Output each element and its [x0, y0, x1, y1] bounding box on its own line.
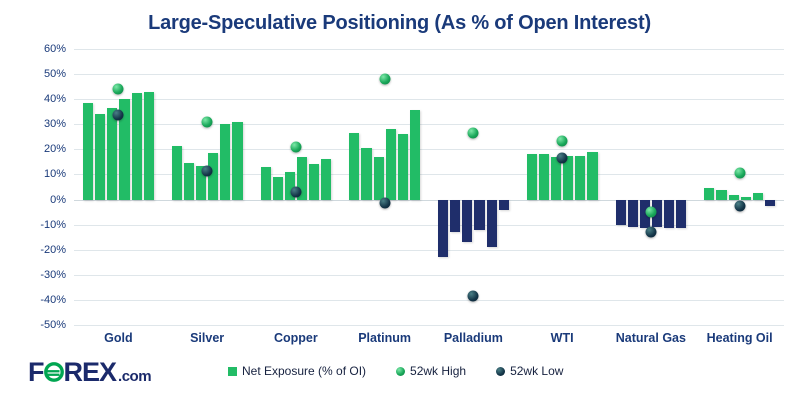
- bar[interactable]: [741, 197, 751, 200]
- y-axis-tick-label: 40%: [6, 93, 66, 105]
- marker-52wk-low[interactable]: [113, 110, 124, 121]
- bar-cell: [184, 49, 194, 325]
- bar[interactable]: [527, 154, 537, 199]
- marker-52wk-low[interactable]: [734, 200, 745, 211]
- y-axis-tick-label: 0%: [6, 194, 66, 206]
- marker-52wk-low[interactable]: [290, 187, 301, 198]
- bar[interactable]: [628, 200, 638, 228]
- x-axis-label-natural-gas: Natural Gas: [607, 331, 696, 345]
- bar-cell: [208, 49, 218, 325]
- bar[interactable]: [499, 200, 509, 210]
- bar-cell: [95, 49, 105, 325]
- legend-label-52wk-high: 52wk High: [410, 364, 466, 378]
- y-axis-tick-label: 20%: [6, 143, 66, 155]
- bar-cell: [527, 49, 537, 325]
- bar-cell: [587, 49, 597, 325]
- y-axis-tick-label: 50%: [6, 68, 66, 80]
- logo-text-rex: REX: [64, 357, 117, 388]
- bar-cell: [398, 49, 408, 325]
- bar[interactable]: [144, 92, 154, 200]
- y-axis-tick-label: 30%: [6, 118, 66, 130]
- marker-52wk-high[interactable]: [113, 84, 124, 95]
- marker-52wk-low[interactable]: [202, 165, 213, 176]
- bar-group-natural-gas: [607, 49, 696, 325]
- bar[interactable]: [184, 163, 194, 199]
- bar-cell: [450, 49, 460, 325]
- bar[interactable]: [462, 200, 472, 243]
- bar-groups: [74, 49, 784, 325]
- bar[interactable]: [349, 133, 359, 199]
- bar[interactable]: [438, 200, 448, 258]
- logo-text-com: .com: [118, 368, 151, 385]
- bar-cell: [664, 49, 674, 325]
- marker-52wk-high[interactable]: [202, 116, 213, 127]
- y-axis-tick-label: 10%: [6, 168, 66, 180]
- bar[interactable]: [398, 134, 408, 199]
- marker-52wk-high[interactable]: [645, 207, 656, 218]
- bar-cell: [386, 49, 396, 325]
- bar-cell: [172, 49, 182, 325]
- bar[interactable]: [676, 200, 686, 229]
- bars: [340, 49, 429, 325]
- bars: [607, 49, 696, 325]
- bar-cell: [765, 49, 775, 325]
- bar[interactable]: [474, 200, 484, 230]
- bar-group-wti: [518, 49, 607, 325]
- legend-label-net-exposure: Net Exposure (% of OI): [242, 364, 366, 378]
- bar-group-heating-oil: [695, 49, 784, 325]
- bar-cell: [640, 49, 650, 325]
- bar-cell: [551, 49, 561, 325]
- bar[interactable]: [273, 177, 283, 200]
- bar-cell: [499, 49, 509, 325]
- bar-cell: [374, 49, 384, 325]
- bar-cell: [410, 49, 420, 325]
- legend-item-52wk-high[interactable]: 52wk High: [396, 364, 466, 378]
- marker-52wk-high[interactable]: [734, 168, 745, 179]
- bar-cell: [462, 49, 472, 325]
- page-title: Large-Speculative Positioning (As % of O…: [0, 12, 799, 35]
- bar-cell: [741, 49, 751, 325]
- bar-group-silver: [163, 49, 252, 325]
- bar[interactable]: [410, 110, 420, 199]
- x-axis-label-platinum: Platinum: [340, 331, 429, 345]
- y-axis-tick-label: -50%: [6, 319, 66, 331]
- bar-cell: [232, 49, 242, 325]
- bar[interactable]: [261, 167, 271, 200]
- bar-cell: [349, 49, 359, 325]
- bar-cell: [704, 49, 714, 325]
- bar-cell: [628, 49, 638, 325]
- bar-cell: [539, 49, 549, 325]
- bar[interactable]: [487, 200, 497, 248]
- bars: [518, 49, 607, 325]
- bar-cell: [716, 49, 726, 325]
- bar-cell: [563, 49, 573, 325]
- bar-cell: [729, 49, 739, 325]
- bar[interactable]: [386, 129, 396, 199]
- legend-label-52wk-low: 52wk Low: [510, 364, 563, 378]
- bar-cell: [575, 49, 585, 325]
- marker-52wk-high[interactable]: [379, 74, 390, 85]
- bar-group-copper: [252, 49, 341, 325]
- legend-item-net-exposure[interactable]: Net Exposure (% of OI): [228, 364, 366, 378]
- logo-text-f: F: [28, 357, 44, 388]
- bar[interactable]: [361, 148, 371, 199]
- bar-cell: [83, 49, 93, 325]
- bar-cell: [676, 49, 686, 325]
- chart-root: Large-Speculative Positioning (As % of O…: [0, 0, 799, 400]
- bars: [163, 49, 252, 325]
- bar-cell: [474, 49, 484, 325]
- legend-swatch-icon: [228, 367, 237, 376]
- x-axis-label-heating-oil: Heating Oil: [695, 331, 784, 345]
- legend-dot-low-icon: [496, 367, 505, 376]
- bar[interactable]: [321, 159, 331, 199]
- bar[interactable]: [95, 114, 105, 199]
- bar[interactable]: [220, 124, 230, 199]
- bar-cell: [309, 49, 319, 325]
- marker-52wk-high[interactable]: [290, 141, 301, 152]
- bar-group-platinum: [340, 49, 429, 325]
- bar[interactable]: [753, 193, 763, 199]
- x-axis-label-wti: WTI: [518, 331, 607, 345]
- euro-o-icon: [44, 362, 64, 382]
- bar[interactable]: [172, 146, 182, 200]
- bar[interactable]: [765, 200, 775, 206]
- chart-legend: Net Exposure (% of OI) 52wk High 52wk Lo…: [228, 364, 563, 378]
- marker-52wk-low[interactable]: [557, 153, 568, 164]
- bar[interactable]: [232, 122, 242, 200]
- y-axis-tick-label: -10%: [6, 219, 66, 231]
- bar-cell: [273, 49, 283, 325]
- bar-cell: [361, 49, 371, 325]
- bar[interactable]: [587, 152, 597, 200]
- legend-dot-high-icon: [396, 367, 405, 376]
- y-axis-tick-label: 60%: [6, 43, 66, 55]
- bar-cell: [753, 49, 763, 325]
- bar[interactable]: [132, 93, 142, 200]
- marker-52wk-low[interactable]: [468, 291, 479, 302]
- x-axis-labels: GoldSilverCopperPlatinumPalladiumWTINatu…: [74, 331, 784, 345]
- y-axis-tick-label: -20%: [6, 244, 66, 256]
- bar[interactable]: [575, 156, 585, 200]
- marker-52wk-high[interactable]: [468, 128, 479, 139]
- bar[interactable]: [716, 190, 726, 200]
- bars: [695, 49, 784, 325]
- marker-52wk-high[interactable]: [557, 135, 568, 146]
- bar[interactable]: [107, 108, 117, 200]
- bar-cell: [261, 49, 271, 325]
- bar[interactable]: [539, 154, 549, 199]
- bar-cell: [438, 49, 448, 325]
- bar-group-gold: [74, 49, 163, 325]
- bar[interactable]: [83, 103, 93, 200]
- bar-cell: [144, 49, 154, 325]
- bar-cell: [132, 49, 142, 325]
- legend-item-52wk-low[interactable]: 52wk Low: [496, 364, 563, 378]
- bar-group-palladium: [429, 49, 518, 325]
- gridline: -50%: [74, 325, 784, 326]
- bar[interactable]: [450, 200, 460, 233]
- x-axis-label-copper: Copper: [252, 331, 341, 345]
- bar[interactable]: [309, 164, 319, 199]
- x-axis-label-gold: Gold: [74, 331, 163, 345]
- bar-cell: [220, 49, 230, 325]
- bar[interactable]: [208, 153, 218, 199]
- forex-logo: F REX .com: [28, 357, 151, 388]
- bar-cell: [487, 49, 497, 325]
- marker-52wk-low[interactable]: [645, 227, 656, 238]
- x-axis-label-palladium: Palladium: [429, 331, 518, 345]
- y-axis-tick-label: -40%: [6, 294, 66, 306]
- x-axis-label-silver: Silver: [163, 331, 252, 345]
- y-axis-tick-label: -30%: [6, 269, 66, 281]
- chart-footer: F REX .com Net Exposure (% of OI) 52wk H…: [0, 348, 799, 400]
- bar[interactable]: [729, 195, 739, 200]
- marker-52wk-low[interactable]: [379, 198, 390, 209]
- bar[interactable]: [664, 200, 674, 229]
- bar[interactable]: [704, 188, 714, 199]
- bar-cell: [321, 49, 331, 325]
- bar[interactable]: [374, 157, 384, 200]
- plot-area: 60%50%40%30%20%10%0%-10%-20%-30%-40%-50%: [74, 49, 784, 325]
- bar[interactable]: [616, 200, 626, 225]
- bar-cell: [616, 49, 626, 325]
- bars: [429, 49, 518, 325]
- bar-cell: [196, 49, 206, 325]
- bar-cell: [652, 49, 662, 325]
